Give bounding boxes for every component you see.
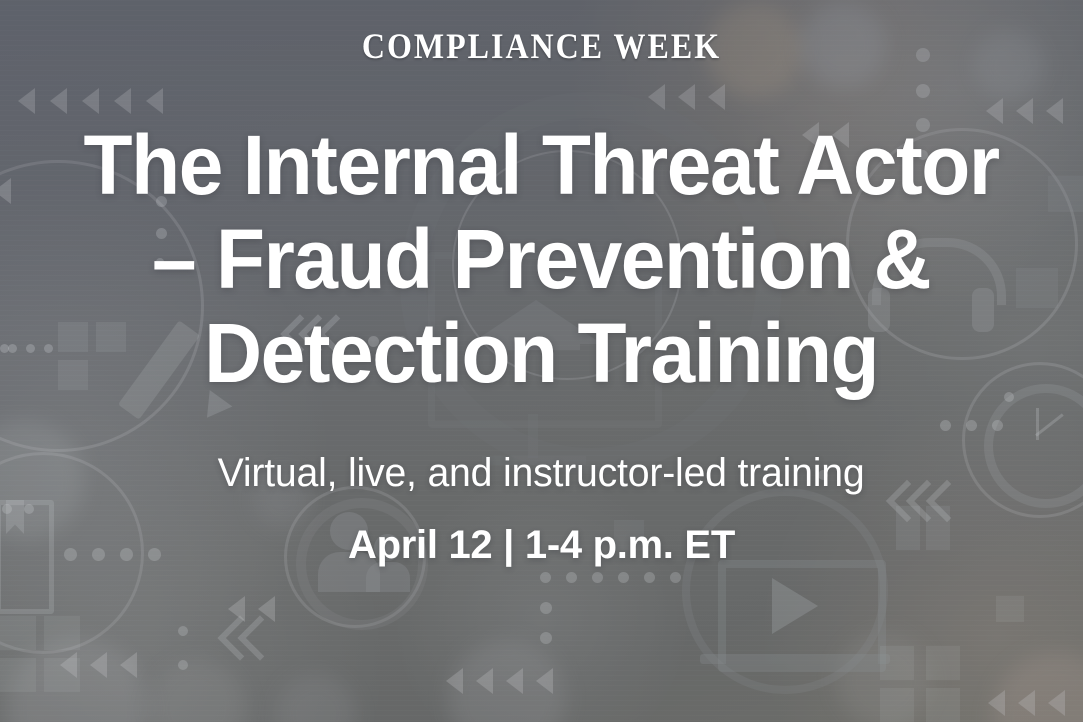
event-promo-banner: COMPLIANCE WEEK The Internal Threat Acto… bbox=[0, 0, 1083, 722]
page-title-line-1: The Internal Threat Actor bbox=[71, 118, 1013, 212]
compliance-week-logo: COMPLIANCE WEEK bbox=[362, 28, 721, 64]
event-subtitle: Virtual, live, and instructor-led traini… bbox=[218, 450, 865, 496]
banner-content: COMPLIANCE WEEK The Internal Threat Acto… bbox=[0, 0, 1083, 722]
page-title-line-2: – Fraud Prevention & bbox=[71, 212, 1013, 306]
page-title-line-3: Detection Training bbox=[71, 306, 1013, 400]
event-date-time: April 12 | 1-4 p.m. ET bbox=[348, 522, 735, 568]
page-title: The Internal Threat Actor – Fraud Preven… bbox=[48, 118, 1034, 400]
